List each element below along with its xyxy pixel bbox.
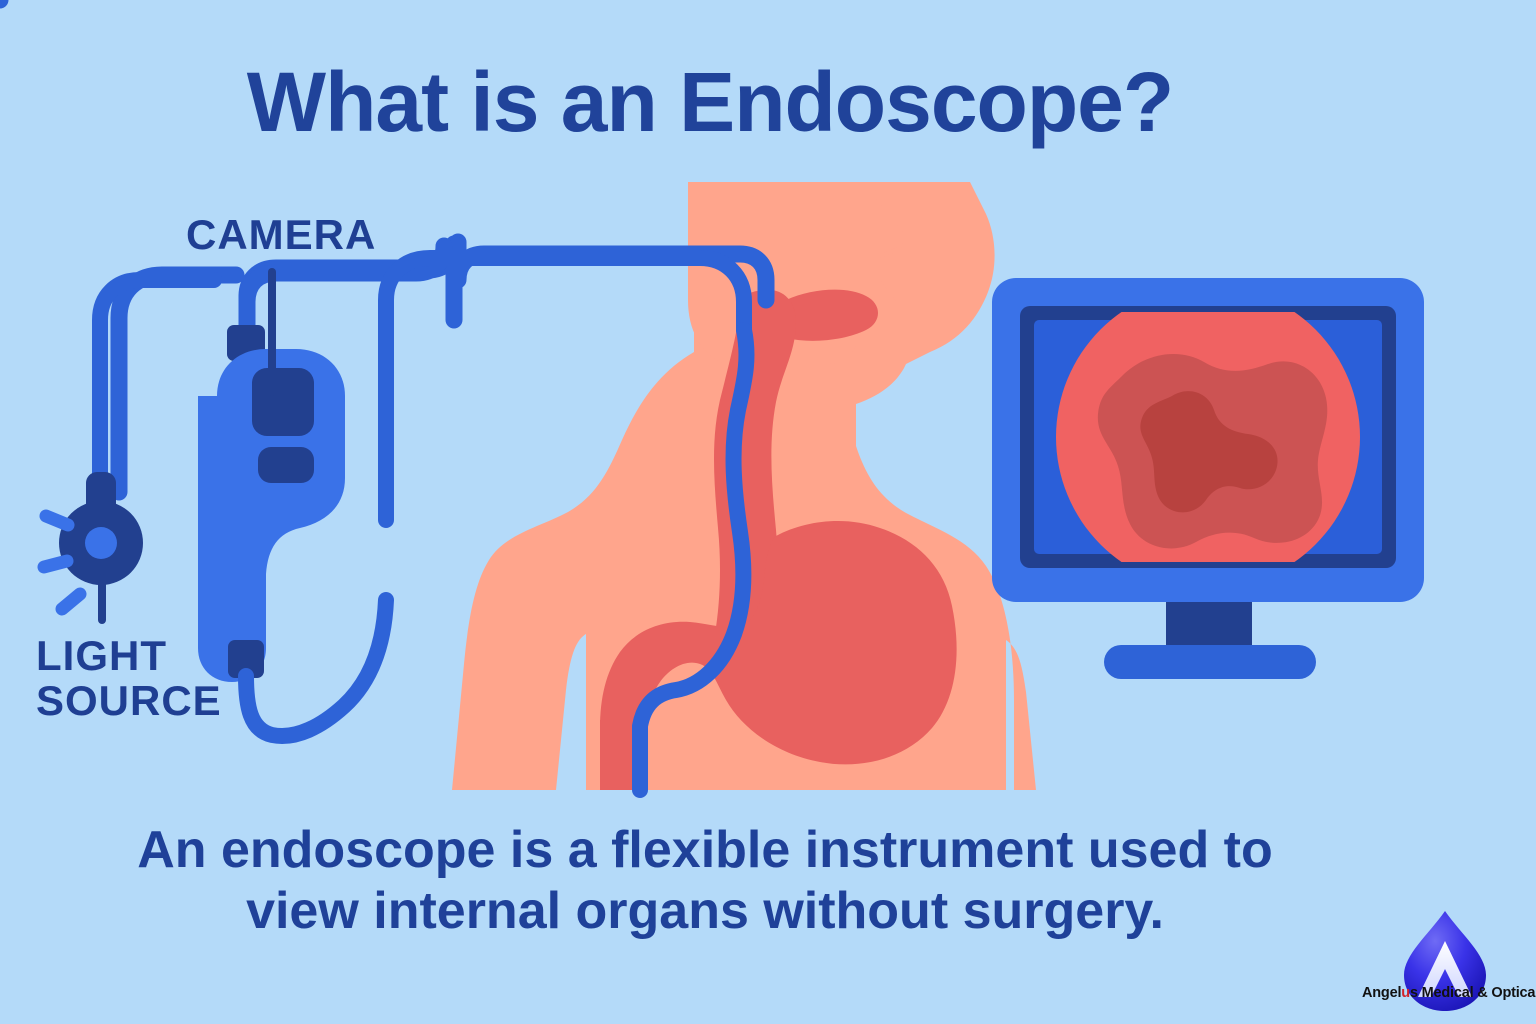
handle-button-small — [258, 447, 314, 483]
page-caption: An endoscope is a flexible instrument us… — [0, 820, 1410, 943]
brand-logo-text: Angelus Medical & Optical — [1362, 985, 1532, 1001]
brand-suffix: s Medical & Optical — [1410, 985, 1536, 1001]
light-source-label: LIGHT SOURCE — [36, 633, 222, 724]
caption-line-2: view internal organs without surgery. — [0, 881, 1410, 942]
light-lens — [85, 527, 117, 559]
infographic-poster: What is an Endoscope? CAMERA LIGHT SOURC… — [0, 0, 1536, 1024]
page-title: What is an Endoscope? — [0, 58, 1420, 146]
handle-button-large — [252, 368, 314, 436]
light-ray-1 — [46, 516, 68, 525]
monitor-stand-neck — [1166, 602, 1252, 650]
light-source-label-line1: LIGHT — [36, 632, 167, 679]
brand-accent: u — [1401, 985, 1410, 1001]
brand-prefix: Angel — [1362, 985, 1401, 1001]
caption-line-1: An endoscope is a flexible instrument us… — [137, 821, 1273, 879]
light-source-label-line2: SOURCE — [36, 677, 222, 724]
camera-label: CAMERA — [186, 213, 376, 257]
endoscopic-view — [1056, 285, 1360, 589]
light-ray-2 — [44, 561, 67, 567]
monitor-stand-base — [1104, 645, 1316, 679]
